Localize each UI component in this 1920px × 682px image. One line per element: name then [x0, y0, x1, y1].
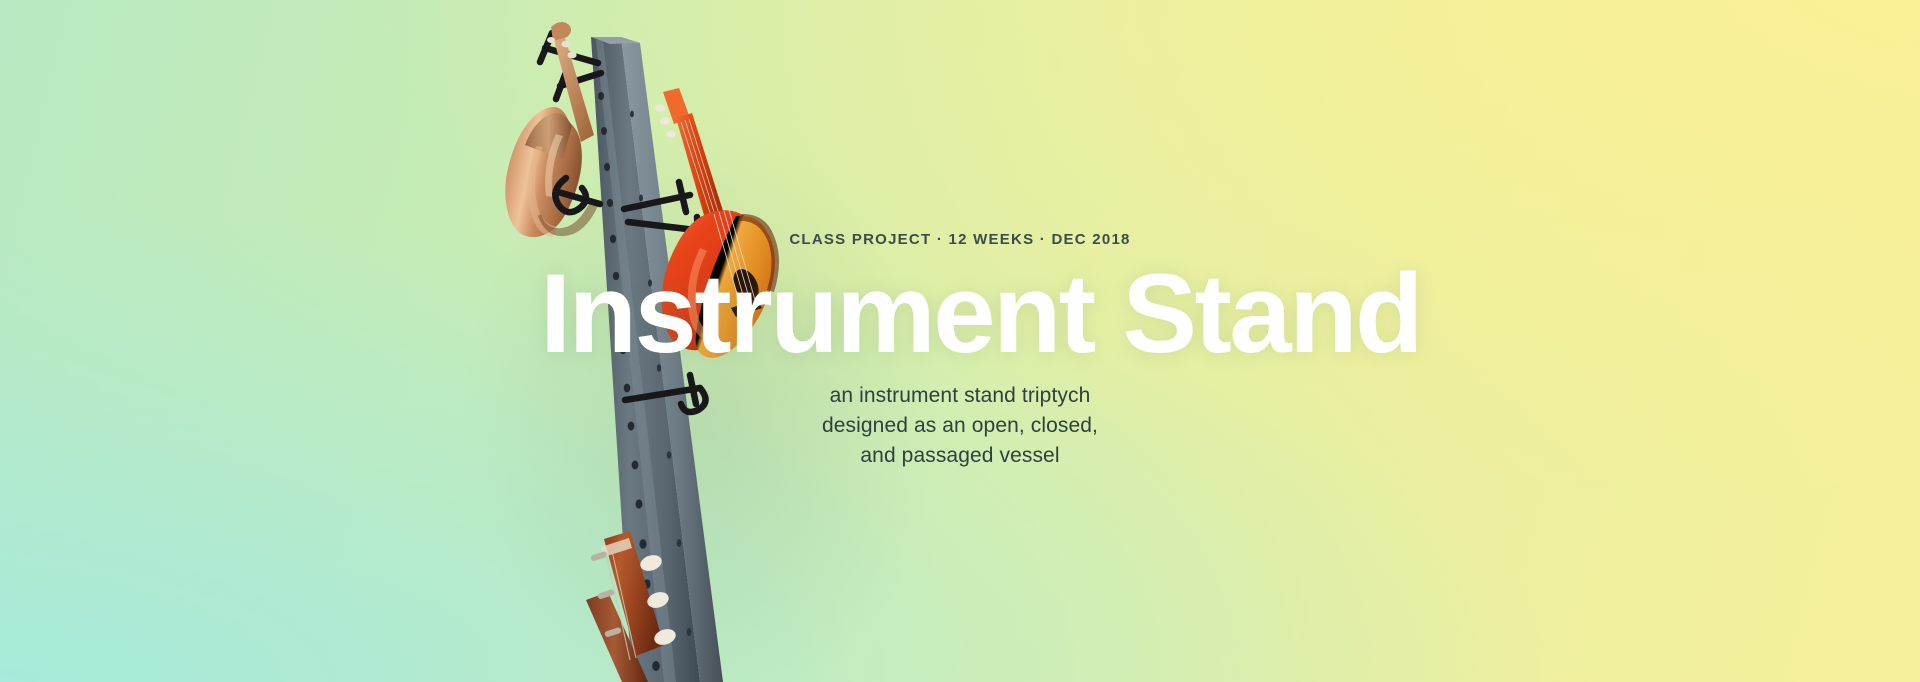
project-meta-eyebrow: CLASS PROJECT · 12 WEEKS · DEC 2018 — [540, 232, 1380, 247]
subtitle-line-2: designed as an open, closed, — [540, 411, 1380, 441]
project-subtitle: an instrument stand triptych designed as… — [540, 381, 1380, 470]
subtitle-line-3: and passaged vessel — [540, 441, 1380, 471]
project-hero-banner: CLASS PROJECT · 12 WEEKS · DEC 2018 Inst… — [0, 0, 1920, 682]
page-title: Instrument Stand — [540, 261, 1380, 367]
hero-copy-block: CLASS PROJECT · 12 WEEKS · DEC 2018 Inst… — [540, 232, 1380, 471]
subtitle-line-1: an instrument stand triptych — [540, 381, 1380, 411]
